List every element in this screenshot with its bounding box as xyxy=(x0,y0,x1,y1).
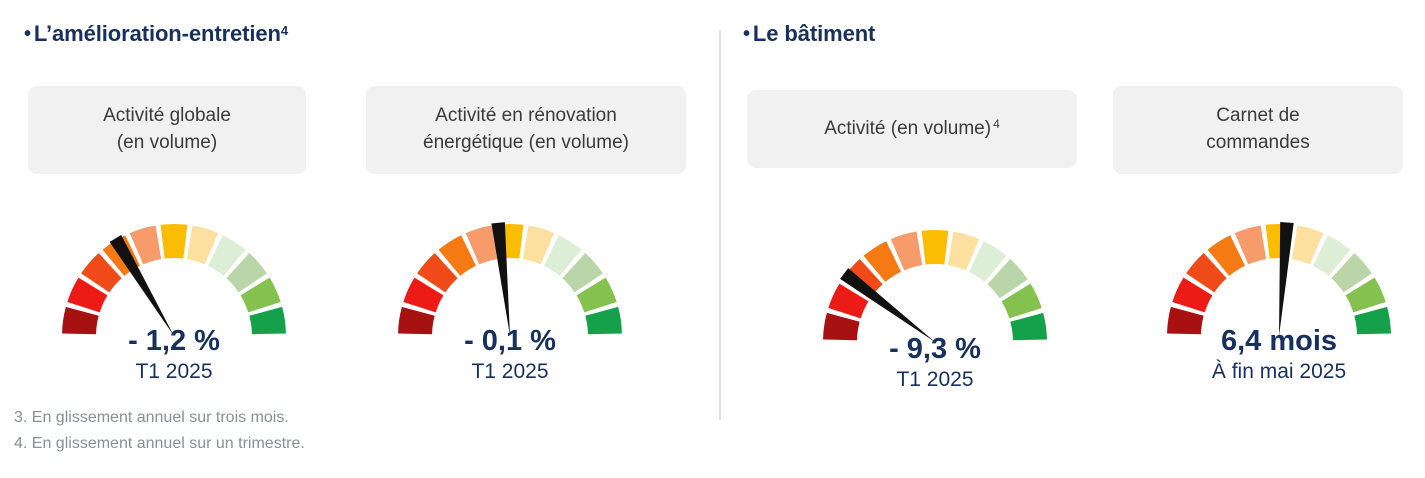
metric-label-line2: commandes xyxy=(1206,132,1310,153)
period-activite-globale: T1 2025 xyxy=(54,358,294,385)
value-block-carnet-commandes: 6,4 mois À fin mai 2025 xyxy=(1149,325,1409,386)
metric-label-renovation-energetique: Activité en rénovation énergétique (en v… xyxy=(366,86,686,174)
metric-label-line1: Carnet de xyxy=(1216,105,1299,126)
period-activite-batiment: T1 2025 xyxy=(815,366,1055,393)
section-heading-right: •Le bâtiment xyxy=(743,21,875,47)
period-carnet-commandes: À fin mai 2025 xyxy=(1149,358,1409,385)
value-block-activite-globale: - 1,2 % T1 2025 xyxy=(54,325,294,386)
period-renovation-energetique: T1 2025 xyxy=(390,358,630,385)
gauge-renovation-energetique xyxy=(390,212,630,342)
value-activite-globale: - 1,2 % xyxy=(54,325,294,358)
metric-label-activite-batiment: Activité (en volume)4 xyxy=(747,90,1077,168)
value-block-renovation-energetique: - 0,1 % T1 2025 xyxy=(390,325,630,386)
footnotes: 3. En glissement annuel sur trois mois. … xyxy=(14,405,634,457)
value-renovation-energetique: - 0,1 % xyxy=(390,325,630,358)
section-heading-left-footnote-ref: 4 xyxy=(281,23,288,38)
metric-label-footnote-ref: 4 xyxy=(991,117,1000,131)
metric-label-line2: énergétique (en volume) xyxy=(423,132,629,153)
metric-label-carnet-commandes: Carnet de commandes xyxy=(1113,86,1403,174)
metric-label-line1: Activité en rénovation xyxy=(435,105,617,126)
section-batiment: •Le bâtiment Activité (en volume)4 Carne… xyxy=(719,0,1425,478)
bullet-icon: • xyxy=(743,23,753,45)
value-carnet-commandes: 6,4 mois xyxy=(1149,325,1409,358)
footnote-4: 4. En glissement annuel sur un trimestre… xyxy=(14,431,634,457)
gauge-activite-globale xyxy=(54,212,294,342)
footnote-3: 3. En glissement annuel sur trois mois. xyxy=(14,405,634,431)
bullet-icon: • xyxy=(24,23,34,45)
metric-label-line1: Activité globale xyxy=(103,105,231,126)
section-heading-right-text: Le bâtiment xyxy=(753,21,875,46)
gauge-carnet-commandes xyxy=(1159,212,1399,342)
section-heading-left: •L’amélioration-entretien4 xyxy=(24,21,288,47)
section-heading-left-text: L’amélioration-entretien xyxy=(34,21,281,46)
metric-label-line2: (en volume) xyxy=(117,132,217,153)
gauge-segment xyxy=(161,224,188,259)
value-activite-batiment: - 9,3 % xyxy=(815,333,1055,366)
metric-label-activite-globale: Activité globale (en volume) xyxy=(28,86,306,174)
metric-label-line1: Activité (en volume) xyxy=(824,118,991,139)
gauge-needle xyxy=(1279,222,1294,336)
gauge-segment xyxy=(922,230,949,265)
gauge-activite-batiment xyxy=(815,218,1055,348)
section-amelioration-entretien: •L’amélioration-entretien4 Activité glob… xyxy=(0,0,719,478)
value-block-activite-batiment: - 9,3 % T1 2025 xyxy=(815,333,1055,394)
